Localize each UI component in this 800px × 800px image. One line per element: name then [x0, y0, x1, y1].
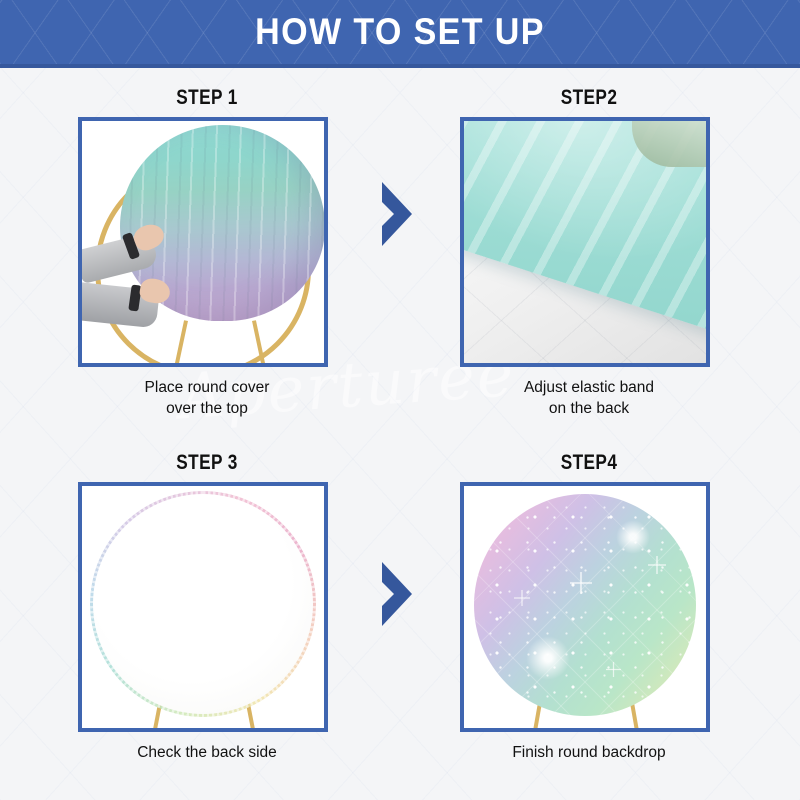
sparkle-icon	[648, 556, 666, 574]
step-3-cell: STEP 3 Check the back side	[78, 451, 336, 763]
step-3-photo	[82, 486, 324, 728]
sparkle-icon	[514, 590, 530, 606]
step-1-caption: Place round cover over the top	[78, 377, 336, 419]
backdrop-back-side	[93, 494, 313, 714]
step-4-photo	[464, 486, 706, 728]
step-4-caption: Finish round backdrop	[460, 742, 718, 763]
arrow-step1-to-step2	[374, 178, 420, 250]
step-3-title: STEP 3	[101, 451, 313, 475]
step-2-caption: Adjust elastic band on the back	[460, 377, 718, 419]
step-3-caption-line-1: Check the back side	[78, 742, 336, 763]
step-1-photo	[82, 121, 324, 363]
step-1-caption-line-2: over the top	[78, 398, 336, 419]
arrow-step3-to-step4	[374, 558, 420, 630]
chevron-right-icon	[374, 558, 420, 630]
step-3-caption: Check the back side	[78, 742, 336, 763]
how-to-set-up-infographic: HOW TO SET UP Aperturee STEP 1	[0, 0, 800, 800]
step-4-caption-line-1: Finish round backdrop	[460, 742, 718, 763]
step-1-cell: STEP 1 Place round cover ov	[78, 86, 336, 419]
step-2-image-frame	[460, 117, 710, 367]
finished-round-backdrop	[474, 494, 696, 716]
step-4-image-frame	[460, 482, 710, 732]
header-banner: HOW TO SET UP	[0, 0, 800, 68]
step-3-image-frame	[78, 482, 328, 732]
chevron-right-icon	[374, 178, 420, 250]
step-4-title: STEP4	[483, 451, 695, 475]
sparkle-icon	[606, 662, 621, 677]
step-4-cell: STEP4 Finish round backdrop	[460, 451, 718, 763]
step-2-caption-line-2: on the back	[460, 398, 718, 419]
sparkle-icon	[570, 572, 592, 594]
step-2-cell: STEP2 Adjust elastic band on the back	[460, 86, 718, 419]
step-2-photo	[464, 121, 706, 363]
step-2-caption-line-1: Adjust elastic band	[460, 377, 718, 398]
step-2-title: STEP2	[483, 86, 695, 110]
step-1-image-frame	[78, 117, 328, 367]
step-1-title: STEP 1	[101, 86, 313, 110]
page-title: HOW TO SET UP	[32, 0, 768, 64]
step-1-caption-line-1: Place round cover	[78, 377, 336, 398]
